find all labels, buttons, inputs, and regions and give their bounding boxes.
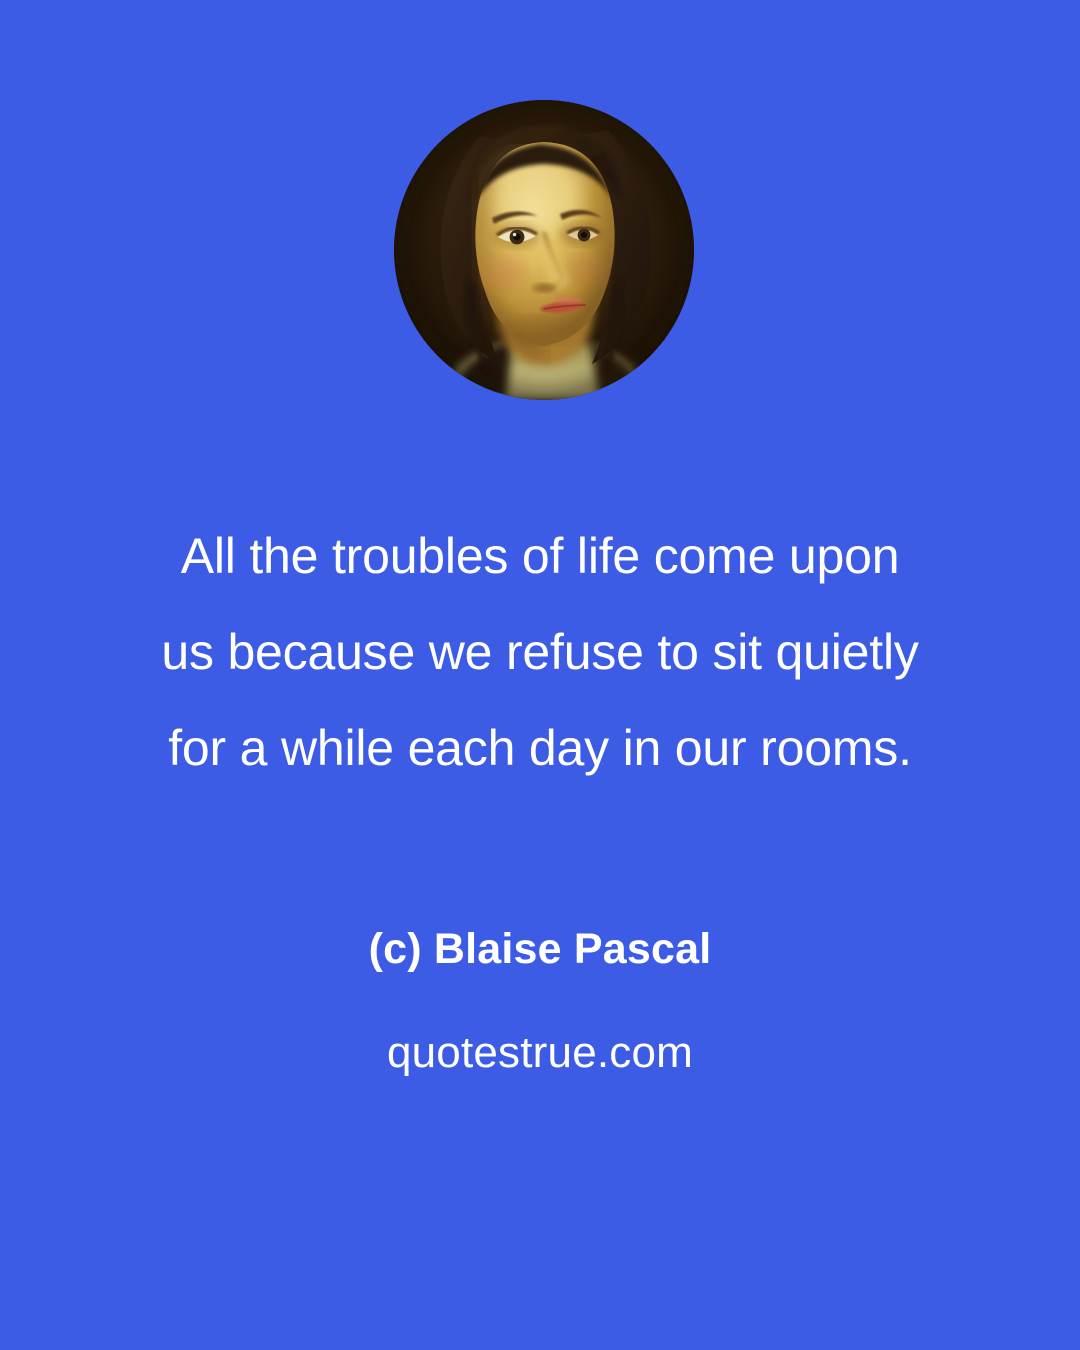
quote-line-2: us because we refuse to sit quietly (0, 604, 1080, 700)
quote-text: All the troubles of life come upon us be… (0, 508, 1080, 796)
website-url: quotestrue.com (0, 1022, 1080, 1084)
quote-line-3: for a while each day in our rooms. (0, 700, 1080, 796)
blaise-pascal-portrait-icon (394, 100, 694, 400)
quote-line-1: All the troubles of life come upon (0, 508, 1080, 604)
author-attribution: (c) Blaise Pascal (0, 920, 1080, 978)
author-portrait-avatar (394, 100, 694, 400)
quote-card: All the troubles of life come upon us be… (0, 0, 1080, 1350)
